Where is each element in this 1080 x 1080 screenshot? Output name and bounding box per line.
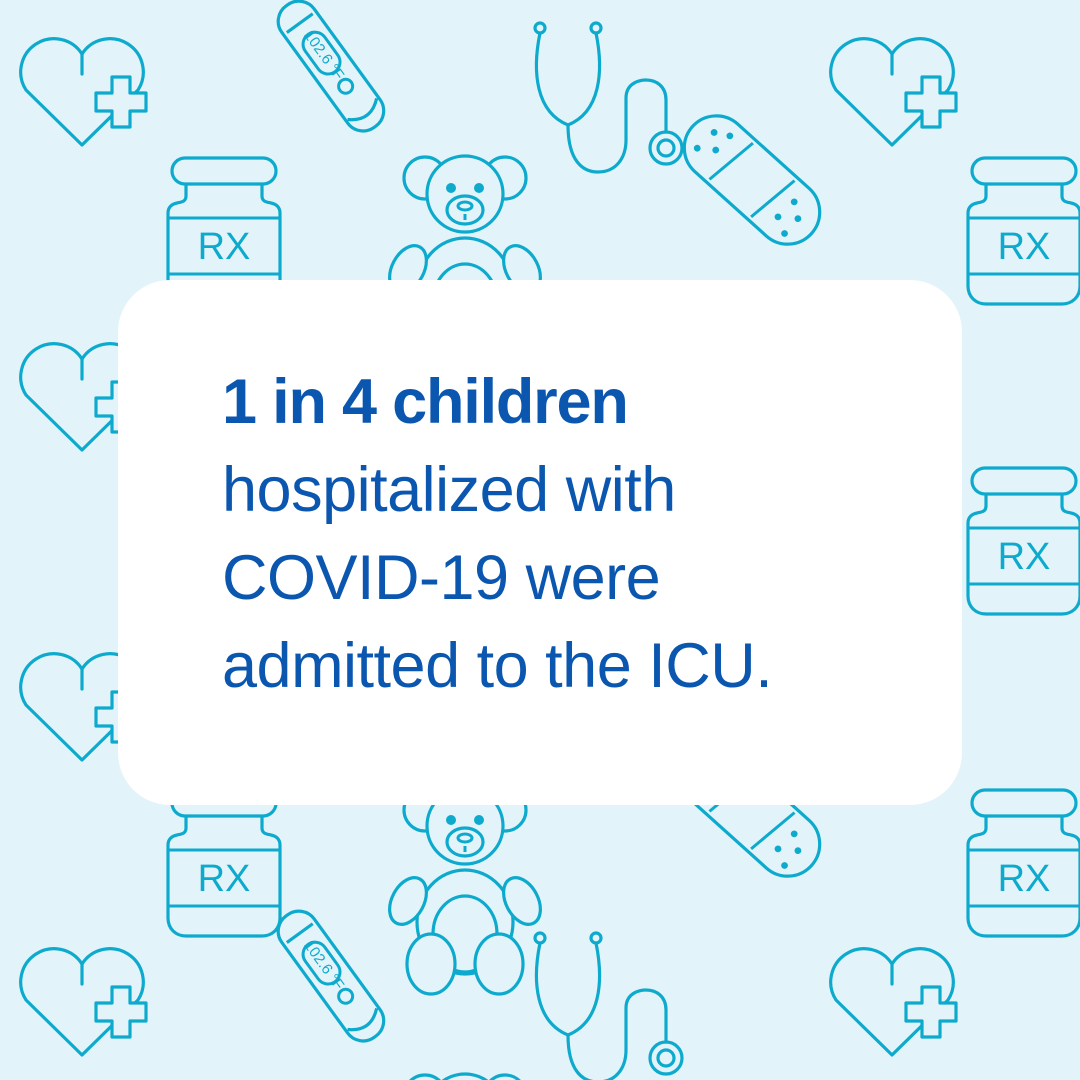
pattern-rx-bottle-icon (968, 790, 1080, 936)
statistic-headline-line-2: hospitalized with (222, 446, 962, 534)
pattern-rx-bottle-icon (968, 468, 1080, 614)
pattern-teddy-bear-icon (382, 1074, 548, 1080)
pattern-stethoscope-icon (535, 23, 682, 172)
pattern-thermometer-icon (271, 0, 392, 138)
pattern-heart-icon (21, 949, 146, 1055)
pattern-heart-icon (831, 39, 956, 145)
statistic-headline-line-4: admitted to the ICU. (222, 622, 962, 710)
pattern-teddy-bear-icon (382, 788, 548, 994)
statistic-headline-line-1: 1 in 4 children (222, 358, 962, 446)
pattern-bandage-icon (671, 103, 833, 258)
pattern-heart-icon (831, 949, 956, 1055)
pattern-stethoscope-icon (535, 933, 682, 1080)
pattern-heart-icon (21, 39, 146, 145)
statistic-headline-line-3: COVID-19 were (222, 534, 962, 622)
pattern-thermometer-icon (271, 904, 392, 1049)
health-statistic-graphic: 102.6 °F (0, 0, 1080, 1080)
statistic-message-card: 1 in 4 children hospitalized with COVID-… (118, 280, 962, 805)
pattern-rx-bottle-icon (968, 158, 1080, 304)
pattern-rx-bottle-icon (168, 790, 280, 936)
